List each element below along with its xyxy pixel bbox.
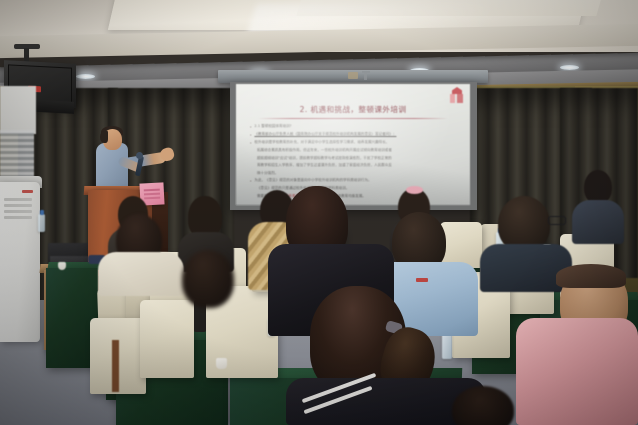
bullet-text-underlined: 《教育部办公厅负责人就〈国务院办公厅关于规范校外培训机构发展的意见〉答记者问》： — [254, 132, 396, 137]
blue-shirt-logo — [416, 278, 428, 282]
air-conditioner-vents — [4, 198, 32, 201]
eyeglasses-icon — [548, 216, 566, 225]
white-floor-air-conditioner — [0, 182, 40, 342]
downlight-1 — [76, 74, 95, 79]
bullet-marker: • — [250, 178, 251, 184]
paragraph-text: 映十分强烈。 — [257, 171, 278, 176]
slide-text-line: 映十分强烈。 — [257, 171, 458, 176]
projection-screen: 2. 机遇和挑战，整顿课外培训 • 2.1 整顿校园体育培训? • 《教育部办公… — [236, 84, 470, 205]
attendee-left-foreground-torso — [98, 252, 184, 296]
slide-title-underline — [258, 118, 448, 119]
slide-bullet-line: • 校外培训是学校教育的补充，对于满足中小学生选择性学习需求、培养发展兴趣特长、 — [250, 140, 458, 146]
water-bottle-6 — [38, 214, 45, 232]
presenter-hair-side — [100, 131, 108, 143]
valance-bracket-stem — [364, 71, 367, 80]
pink-hair-accessory — [406, 186, 423, 194]
attendee-right-back-dark-shirt — [572, 200, 624, 244]
paper-cup — [216, 358, 227, 369]
downlight-4 — [560, 65, 579, 70]
bullet-text: 为此，《意见》规范的对象是面向中小学校外培训机构的学科类培训行为。 — [254, 178, 371, 183]
slide-bullet-line: • 《教育部办公厅负责人就〈国务院办公厅关于规范校外培训机构发展的意见〉答记者问… — [250, 132, 458, 138]
microphone-head — [136, 152, 143, 159]
paragraph-text: 育教学和招生入学秩序，增加了学生过重课外负担，加重了家庭经济负担，人民群众反 — [257, 163, 392, 168]
slide-text-line: 超前超纲培训"应试"培训，提前教学超标教学与考试挂钩愈演愈烈，干扰了学校正常的 — [257, 156, 458, 161]
wall-panel-left — [0, 86, 36, 134]
paragraph-text: 超前超纲培训"应试"培训，提前教学超标教学与考试挂钩愈演愈烈，干扰了学校正常的 — [257, 156, 392, 161]
chair-leg — [112, 340, 119, 392]
slide-text-line: 育教学和招生入学秩序，增加了学生过重课外负担，加重了家庭经济负担，人民群众反 — [257, 163, 458, 168]
slide-text-line: 拓展综合素质具有积极作用。但近年来，一些校外培训机构开展应试倾向教育培训或者 — [257, 148, 458, 153]
bullet-marker: • — [250, 124, 251, 130]
attendee-pink-shirt-hair — [556, 264, 626, 288]
valance-fixture — [348, 72, 358, 79]
chair-left-front-2 — [140, 300, 194, 378]
slide-bullet-line: • 2.1 整顿校园体育培训? — [250, 124, 458, 130]
slide-title-area: 2. 机遇和挑战，整顿课外培训 — [236, 104, 470, 115]
air-conditioner-badge — [22, 190, 33, 193]
bullet-text: 校外培训是学校教育的补充，对于满足中小学生选择性学习需求、培养发展兴趣特长、 — [254, 140, 389, 145]
bullet-marker: • — [250, 132, 251, 138]
attendee-right-back-head — [584, 170, 612, 204]
paragraph-text: 拓展综合素质具有积极作用。但近年来，一些校外培训机构开展应试倾向教育培训或者 — [257, 148, 392, 153]
attendee-bottom-left-head — [182, 250, 234, 308]
red-house-logo — [449, 87, 465, 103]
conference-room-photo: 2. 机遇和挑战，整顿课外培训 • 2.1 整顿校园体育培训? • 《教育部办公… — [0, 0, 638, 425]
slide-bullet-line: • 为此，《意见》规范的对象是面向中小学校外培训机构的学科类培训行为。 — [250, 178, 458, 184]
slide-text-line: 《意见》规范的只是通过校外培训机构开展的学科类培训。 — [257, 186, 458, 191]
attendee-pink-shirt-right — [516, 318, 638, 425]
paper-cup-2 — [58, 262, 66, 270]
bullet-text: 2.1 整顿校园体育培训? — [254, 124, 291, 129]
slide-title: 2. 机遇和挑战，整顿课外培训 — [236, 104, 470, 115]
water-bottle-4 — [442, 333, 452, 359]
bullet-marker: • — [250, 140, 251, 146]
